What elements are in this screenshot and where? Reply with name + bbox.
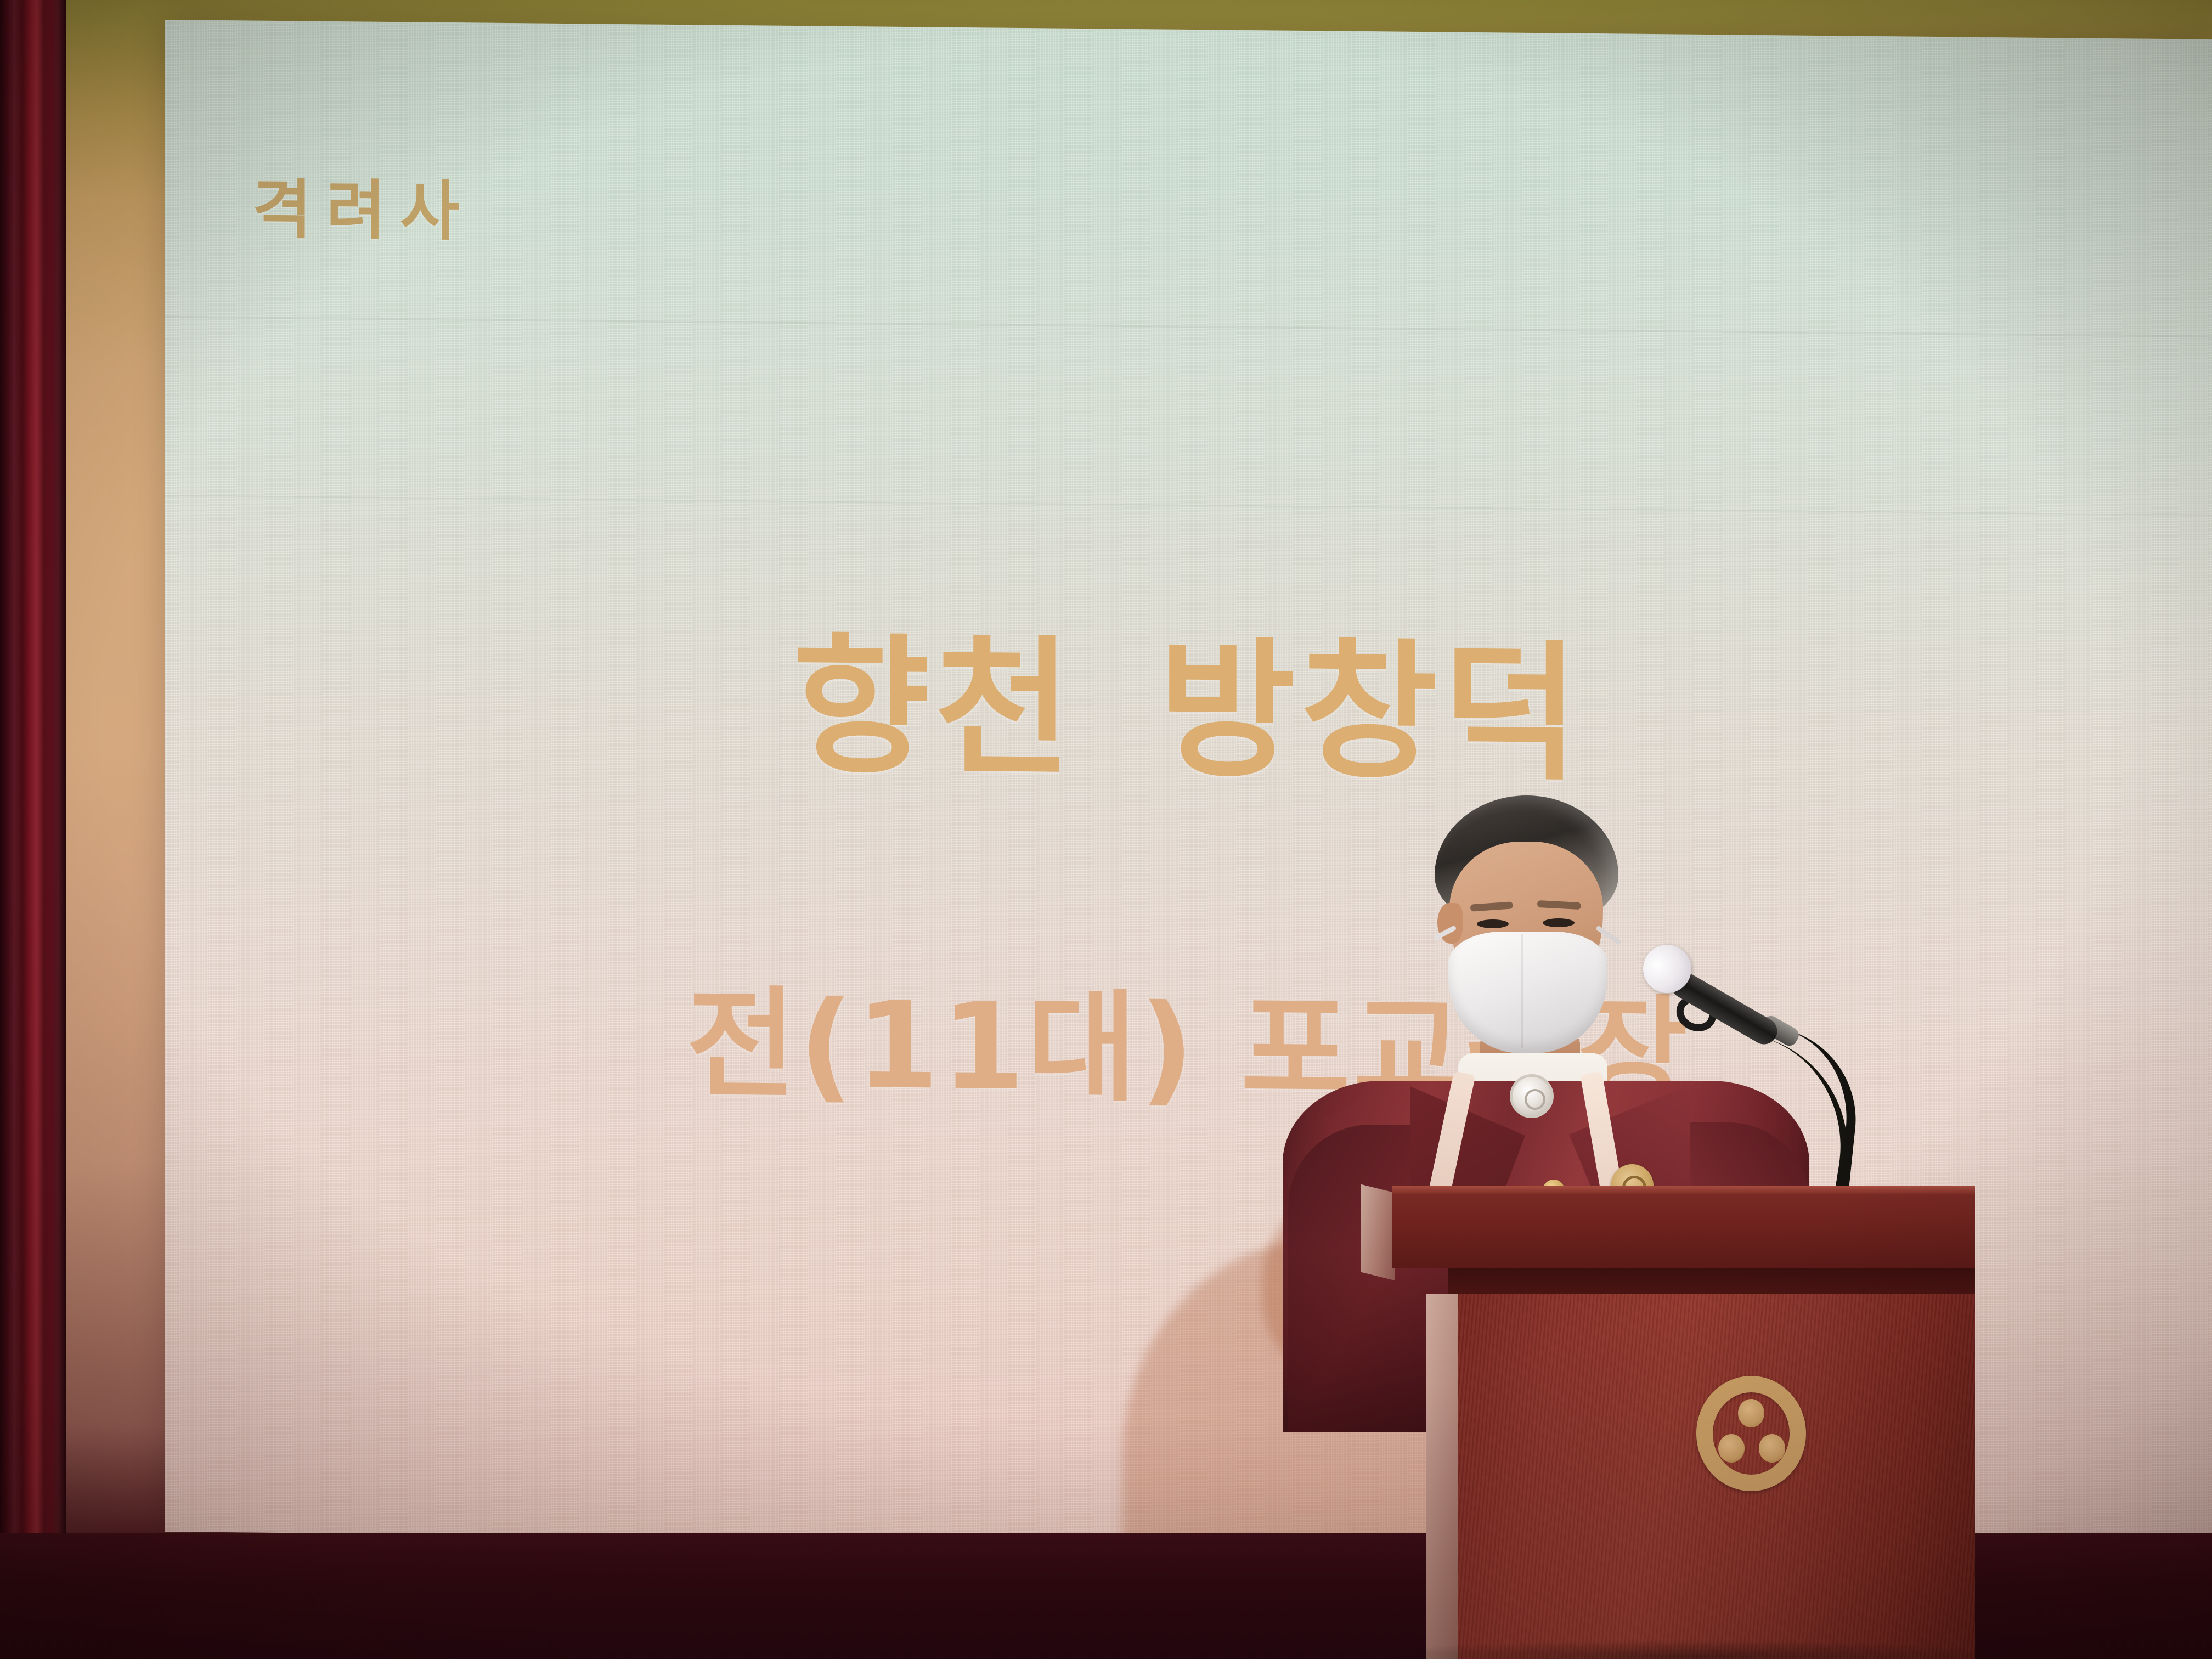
screen-seam-secondary [165, 495, 2212, 516]
podium-top-edge [1392, 1186, 1975, 1194]
slide-headline-part1: 향천 [793, 620, 1076, 797]
podium-top-desk [1392, 1186, 1975, 1268]
podium-floor-shadow [1361, 1640, 2019, 1659]
screen-seam [165, 316, 2212, 337]
speaker-necklace-pendant-icon [1510, 1074, 1554, 1118]
emblem-circle-top [1738, 1399, 1764, 1427]
podium [1361, 1186, 1975, 1659]
podium-top-side-panel [1361, 1184, 1395, 1280]
speaker-eye-right [1543, 918, 1575, 927]
emblem-circle-right [1759, 1434, 1785, 1463]
emblem-circle-left [1718, 1434, 1745, 1463]
speaker-eye-left [1477, 919, 1509, 928]
slide-eyebrow-label: 격려사 [252, 157, 474, 253]
slide-headline: 향천방창덕 [165, 579, 2212, 815]
speaker-mask-fold [1521, 934, 1523, 1048]
speaker-face-mask [1448, 932, 1607, 1053]
stage-curtain-left [0, 0, 66, 1659]
podium-side-panel [1426, 1294, 1460, 1659]
slide-headline-part2: 방창덕 [1159, 624, 1584, 801]
podium-three-circle-emblem-icon [1696, 1376, 1806, 1491]
auditorium-scene: 격려사 향천방창덕 전(11대) 포교원장 [0, 0, 2212, 1659]
slide-subline: 전(11대) 포교원장 [165, 941, 2212, 1135]
slide-headline-gap [1076, 761, 1159, 761]
